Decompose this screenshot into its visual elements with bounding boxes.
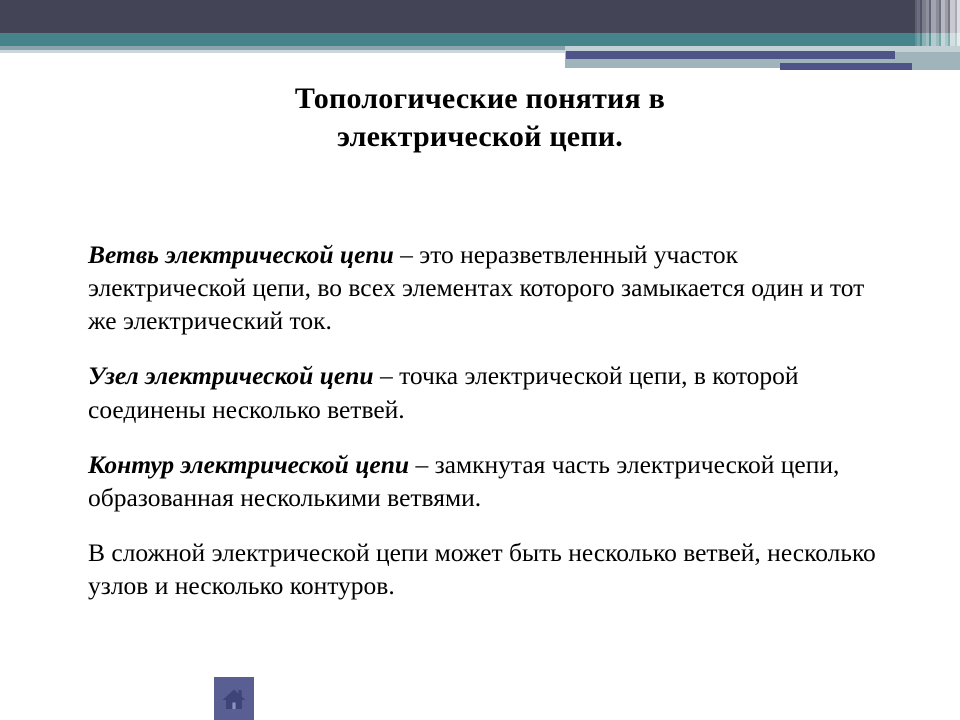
definition-loop-term: Контур электрической цепи	[88, 450, 409, 479]
definition-branch-term: Ветвь электрической цепи	[88, 240, 394, 269]
header-vertical-stripes	[912, 0, 960, 70]
page-title: Топологические понятия в электрической ц…	[180, 80, 780, 157]
page-title-line-1: Топологические понятия в	[180, 80, 780, 118]
slide-header-decoration	[0, 0, 960, 70]
definition-node: Узел электрической цепи – точка электрич…	[88, 359, 894, 425]
definition-node-term: Узел электрической цепи	[88, 361, 374, 390]
definition-branch: Ветвь электрической цепи – это неразветв…	[88, 238, 894, 337]
slide: Топологические понятия в электрической ц…	[0, 0, 960, 720]
summary-paragraph-text: В сложной электрической цепи может быть …	[88, 538, 876, 600]
header-teal-extension	[560, 33, 960, 46]
definition-loop: Контур электрической цепи – замкнутая ча…	[88, 448, 894, 514]
summary-paragraph: В сложной электрической цепи может быть …	[88, 536, 894, 602]
page-title-line-2: электрической цепи.	[180, 118, 780, 156]
home-button[interactable]	[214, 677, 254, 720]
header-gray-line-light	[0, 50, 565, 53]
header-accent-bar-primary	[566, 51, 895, 59]
header-navy-band	[0, 0, 960, 33]
home-icon	[221, 686, 247, 712]
content-body: Ветвь электрической цепи – это неразветв…	[88, 238, 894, 602]
